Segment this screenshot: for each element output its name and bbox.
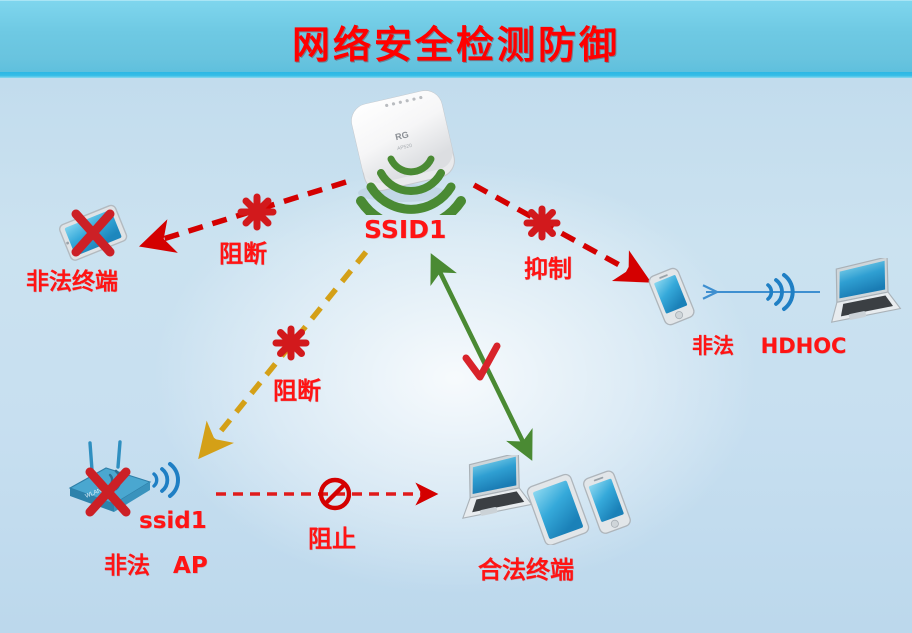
hdhoc-laptop-icon[interactable] xyxy=(818,258,902,330)
hdhoc-label: 非法 HDHOC xyxy=(692,330,846,360)
asterisk-icon xyxy=(276,329,306,357)
diagram-root: 网络安全检测防御 xyxy=(0,0,912,633)
asterisk-icon xyxy=(527,209,557,237)
legal-laptop-icon xyxy=(455,455,532,519)
illegal-terminal-label: 非法终端 xyxy=(26,262,118,296)
illegal-ap-label-part2: AP xyxy=(173,553,208,579)
illegal-ap-label-part1: 非法 xyxy=(104,553,150,579)
link-block-illegal-terminal xyxy=(160,182,346,240)
legal-smartphone-icon xyxy=(582,469,632,534)
legal-terminals-label: 合法终端 xyxy=(478,550,574,585)
link-label-block-ap: 阻断 xyxy=(273,371,321,406)
link-label-block-terminal: 阻断 xyxy=(219,234,267,269)
hdhoc-label-part1: 非法 xyxy=(692,334,734,358)
link-label-suppress-hdhoc: 抑制 xyxy=(524,249,572,284)
illegal-ap-ssid-label: ssid1 xyxy=(139,508,207,534)
link-label-prevent: 阻止 xyxy=(308,519,356,554)
legal-terminals-group[interactable] xyxy=(452,455,642,545)
central-ap-ssid-label: SSID1 xyxy=(364,215,446,244)
asterisk-icon xyxy=(241,197,273,227)
link-allow-legal-terminals xyxy=(438,268,525,446)
hdhoc-smartphone-icon[interactable] xyxy=(642,262,704,330)
legal-tablet-icon xyxy=(526,473,590,545)
illegal-ap-label: 非法 AP xyxy=(104,546,208,580)
hdhoc-label-part2: HDHOC xyxy=(761,334,847,358)
hdhoc-wifi-signal-icon xyxy=(760,268,806,316)
illegal-terminal-icon[interactable] xyxy=(46,196,138,268)
link-block-illegal-ap xyxy=(212,252,366,442)
ap-wifi-signal-icon xyxy=(355,143,467,215)
illegal-ap-wifi-signal-icon xyxy=(148,455,194,505)
link-prevent-illegal-ap-to-terminals xyxy=(216,480,424,508)
